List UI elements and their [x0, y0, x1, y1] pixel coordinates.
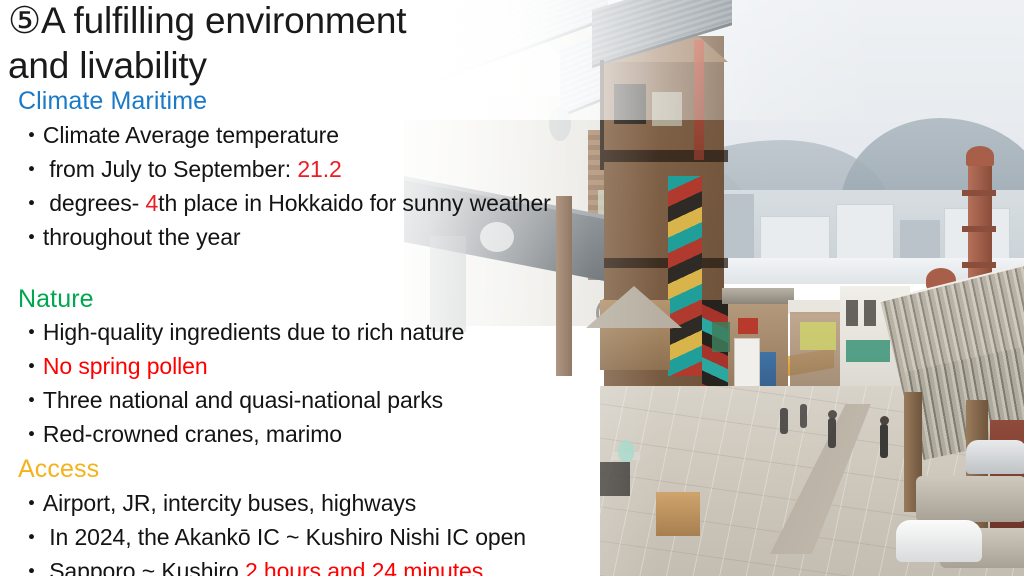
- list-item: ・Three national and quasi-national parks: [20, 383, 680, 417]
- bullet-list-climate: ・Climate Average temperature ・ from July…: [20, 118, 680, 254]
- section-heading-access: Access: [18, 455, 99, 483]
- highlight-value: 4: [145, 190, 158, 216]
- list-item-text: ・ Sapporo ~ Kushiro: [20, 558, 245, 576]
- bullet-marker: ・: [20, 353, 43, 379]
- bullet-list-access: ・Airport, JR, intercity buses, highways …: [20, 486, 680, 576]
- section-heading-climate: Climate Maritime: [18, 87, 207, 115]
- list-item: ・ degrees- 4th place in Hokkaido for sun…: [20, 186, 680, 220]
- list-item-text: ・ from July to September:: [20, 156, 297, 182]
- list-item: ・Climate Average temperature: [20, 118, 680, 152]
- list-item-text: th place in Hokkaido for sunny weather: [158, 190, 551, 216]
- list-item: ・ from July to September: 21.2: [20, 152, 680, 186]
- presentation-slide: ⑤A fulfilling environment and livability…: [0, 0, 1024, 576]
- list-item: ・High-quality ingredients due to rich na…: [20, 315, 680, 349]
- list-item: ・Airport, JR, intercity buses, highways: [20, 486, 680, 520]
- highlight-value: 2 hours and 24 minutes: [245, 558, 483, 576]
- slide-text-layer: ⑤A fulfilling environment and livability…: [0, 0, 1024, 576]
- page-title: ⑤A fulfilling environment and livability: [8, 0, 648, 88]
- list-item-text: ・ degrees-: [20, 190, 145, 216]
- bullet-list-nature: ・High-quality ingredients due to rich na…: [20, 315, 680, 451]
- list-item: ・throughout the year: [20, 220, 680, 254]
- list-item: ・ Sapporo ~ Kushiro 2 hours and 24 minut…: [20, 554, 680, 576]
- highlight-value: No spring pollen: [43, 353, 208, 379]
- list-item: ・ In 2024, the Akankō IC ~ Kushiro Nishi…: [20, 520, 680, 554]
- section-heading-nature: Nature: [18, 285, 94, 313]
- list-item: ・No spring pollen: [20, 349, 680, 383]
- list-item: ・Red-crowned cranes, marimo: [20, 417, 680, 451]
- highlight-value: 21.2: [297, 156, 341, 182]
